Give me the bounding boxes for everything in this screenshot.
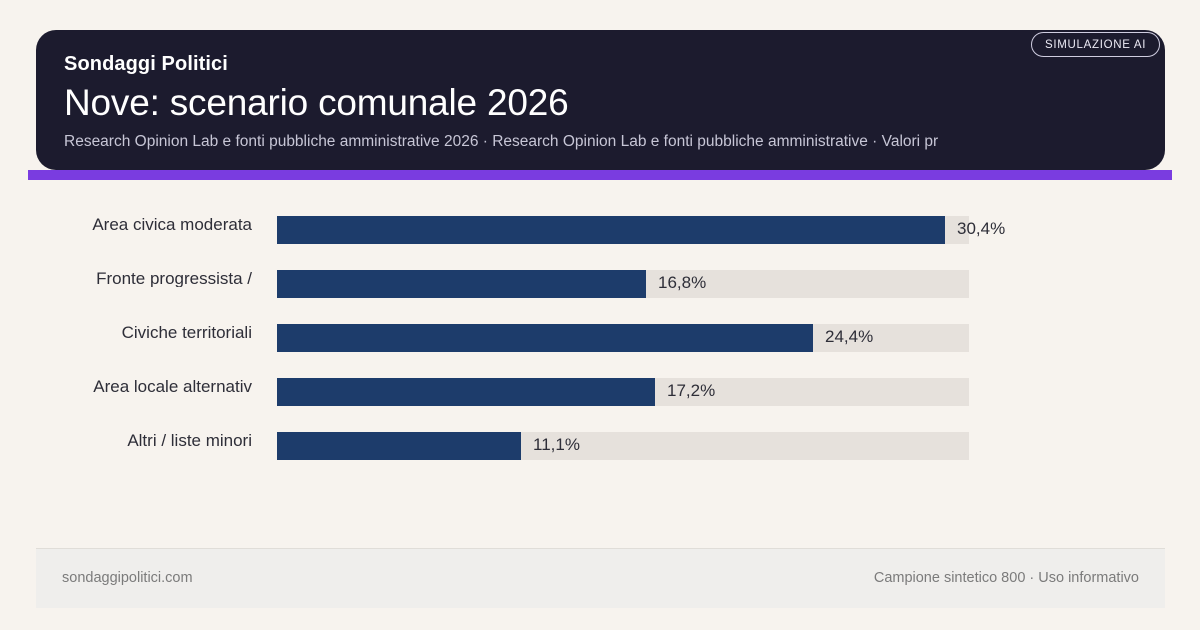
bar-value: 24,4%: [825, 328, 873, 345]
footer-site-name: sondaggipolitici.com: [62, 570, 193, 586]
bar-label: Civiche territoriali: [0, 324, 252, 341]
bar-label: Fronte progressista /: [0, 270, 252, 287]
bar-fill: [277, 378, 655, 406]
bar-track: [277, 378, 969, 406]
bar-value: 11,1%: [533, 436, 580, 453]
bar-fill: [277, 324, 813, 352]
header-text-block: Sondaggi Politici Nove: scenario comunal…: [64, 52, 1165, 152]
bar-value: 30,4%: [957, 220, 1005, 237]
bar-fill: [277, 432, 521, 460]
bar-label: Altri / liste minori: [0, 432, 252, 449]
footer-note: Campione sintetico 800 · Uso informativo: [874, 570, 1139, 586]
bar-track: [277, 432, 969, 460]
chart-row: Fronte progressista / 16,8%: [0, 254, 1200, 308]
header-subtitle: Research Opinion Lab e fonti pubbliche a…: [64, 132, 1165, 152]
chart-row: Area civica moderata 30,4%: [0, 200, 1200, 254]
bar-track: [277, 216, 969, 244]
bar-fill: [277, 216, 945, 244]
chart-row: Area locale alternativ 17,2%: [0, 362, 1200, 416]
bar-value: 17,2%: [667, 382, 715, 399]
chart-row: Civiche territoriali 24,4%: [0, 308, 1200, 362]
chart-row: Altri / liste minori 11,1%: [0, 416, 1200, 470]
bar-label: Area civica moderata: [0, 216, 252, 233]
bar-fill: [277, 270, 646, 298]
bar-track: [277, 270, 969, 298]
accent-divider: [28, 170, 1172, 180]
status-badge-simulazione-ai: SIMULAZIONE AI: [1031, 32, 1160, 57]
header-kicker: Sondaggi Politici: [64, 52, 1165, 76]
header-card: Sondaggi Politici Nove: scenario comunal…: [36, 30, 1165, 170]
page-title: Nove: scenario comunale 2026: [64, 80, 1165, 125]
footer: sondaggipolitici.com Campione sintetico …: [36, 548, 1165, 608]
bar-label: Area locale alternativ: [0, 378, 252, 395]
bar-value: 16,8%: [658, 274, 706, 291]
bar-chart: Area civica moderata 30,4% Fronte progre…: [0, 200, 1200, 470]
